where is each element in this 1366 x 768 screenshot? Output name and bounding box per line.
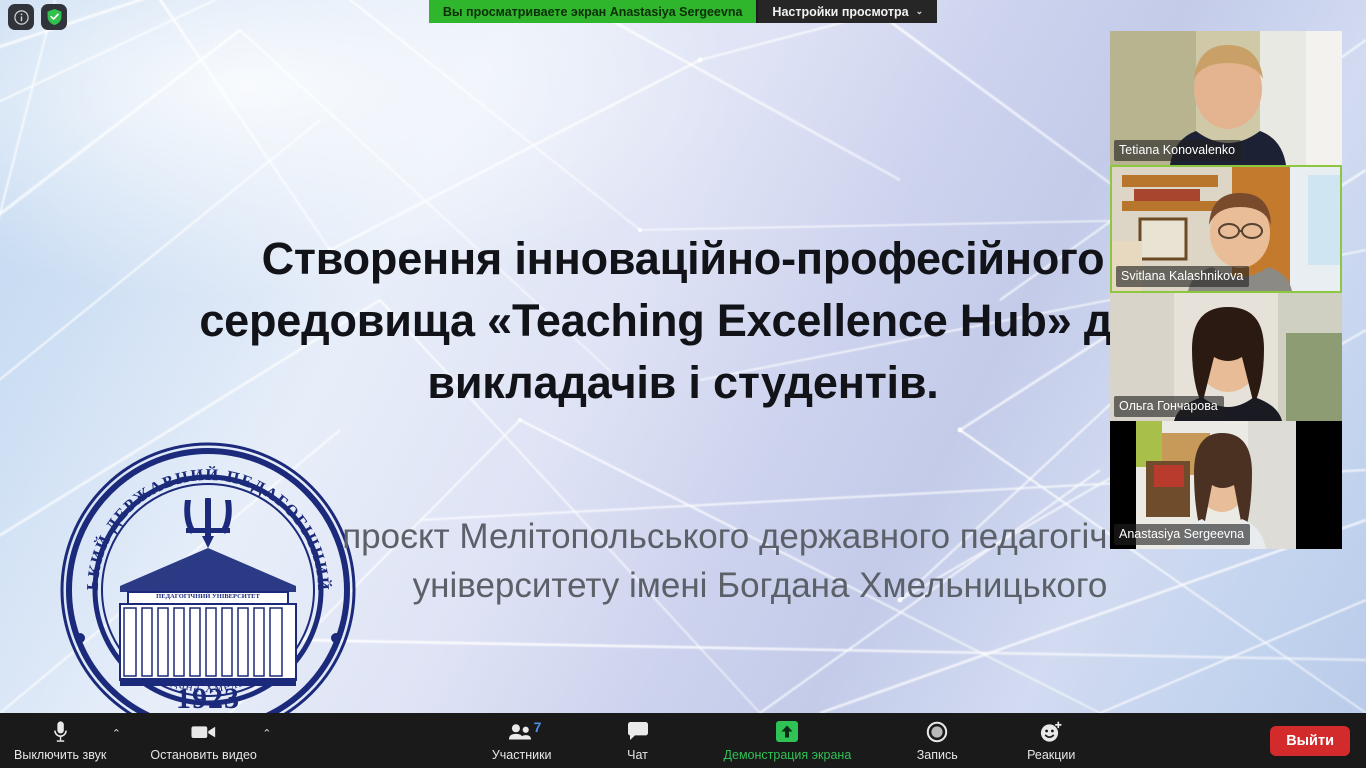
view-options-button[interactable]: Настройки просмотра ⌄: [756, 0, 937, 23]
camera-icon: [191, 719, 217, 745]
video-control-group: Остановить видео ⌃: [150, 719, 275, 762]
reactions-label: Реакции: [1027, 748, 1075, 762]
chevron-down-icon: ⌄: [916, 6, 924, 17]
toolbar-center-group: 7 Участники Чат Де: [301, 719, 1270, 762]
top-left-controls: [8, 4, 67, 30]
shield-check-icon: [46, 8, 63, 26]
chat-button[interactable]: Чат: [610, 719, 666, 762]
video-tile[interactable]: Ольга Гончарова: [1110, 293, 1342, 421]
stop-video-label: Остановить видео: [150, 748, 257, 762]
emblem-year: 1923: [176, 682, 240, 713]
video-tile[interactable]: Anastasiya Sergeevna: [1110, 421, 1342, 549]
meeting-info-button[interactable]: [8, 4, 34, 30]
screen-share-banner: Вы просматриваете экран Anastasiya Serge…: [429, 0, 757, 23]
smiley-plus-icon: [1039, 719, 1063, 745]
view-options-label: Настройки просмотра: [772, 5, 908, 19]
encryption-status-button[interactable]: [41, 4, 67, 30]
chat-label: Чат: [627, 748, 648, 762]
leave-meeting-button[interactable]: Выйти: [1270, 726, 1350, 756]
meeting-toolbar: Выключить звук ⌃ Остановить видео ⌃: [0, 713, 1366, 768]
record-circle-icon: [926, 719, 948, 745]
mute-control-group: Выключить звук ⌃: [14, 719, 124, 762]
participant-filmstrip[interactable]: Tetiana Konovalenko: [1110, 31, 1342, 549]
participant-name-label: Tetiana Konovalenko: [1114, 140, 1241, 161]
share-screen-button[interactable]: Демонстрация экрана: [724, 719, 852, 762]
trident-icon: [184, 498, 232, 548]
info-icon: [13, 9, 30, 26]
audio-options-caret[interactable]: ⌃: [108, 727, 124, 740]
zoom-meeting-window: МЕЛІТОПОЛЬСЬКИЙ ДЕРЖАВНИЙ ПЕДАГОГІЧНИЙ У…: [0, 0, 1366, 768]
participants-button[interactable]: 7 Участники: [492, 719, 552, 762]
microphone-icon: [53, 719, 68, 745]
toolbar-left-group: Выключить звук ⌃ Остановить видео ⌃: [14, 719, 301, 762]
toolbar-right-group: Выйти: [1270, 726, 1350, 756]
participants-label: Участники: [492, 748, 552, 762]
chat-bubble-icon: [627, 719, 649, 745]
video-tile[interactable]: Svitlana Kalashnikova: [1110, 165, 1342, 293]
participants-count: 7: [534, 719, 542, 735]
participant-name-label: Ольга Гончарова: [1114, 396, 1224, 417]
video-tile[interactable]: Tetiana Konovalenko: [1110, 31, 1342, 165]
reactions-button[interactable]: Реакции: [1023, 719, 1079, 762]
mute-button[interactable]: Выключить звук: [14, 719, 106, 762]
share-screen-label: Демонстрация экрана: [724, 748, 852, 762]
video-options-caret[interactable]: ⌃: [259, 727, 275, 740]
participant-name-label: Anastasiya Sergeevna: [1114, 524, 1250, 545]
stop-video-button[interactable]: Остановить видео: [150, 719, 257, 762]
record-label: Запись: [917, 748, 958, 762]
share-screen-icon: [774, 719, 800, 745]
record-button[interactable]: Запись: [909, 719, 965, 762]
participant-name-label: Svitlana Kalashnikova: [1116, 266, 1249, 287]
mute-label: Выключить звук: [14, 748, 106, 762]
participants-icon: 7: [508, 719, 536, 745]
